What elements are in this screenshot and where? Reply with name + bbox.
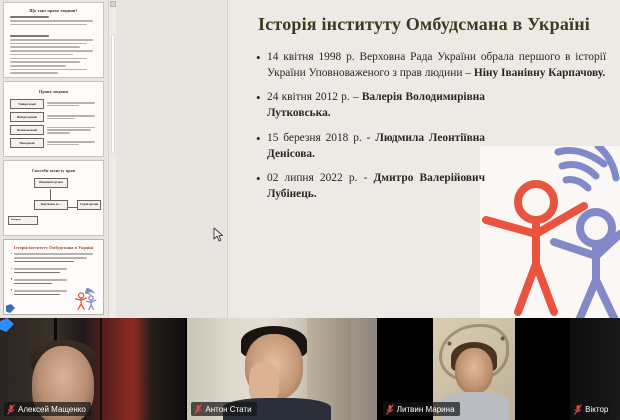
bullet-text-1: 24 квітня 2012 р. – Валерія Володимирівн… bbox=[267, 90, 485, 121]
thumbnail-2-box-3: Неподільні bbox=[10, 138, 44, 148]
thumbnail-3-node-3: Заборона bbox=[8, 216, 38, 225]
participant-tile-2[interactable]: Литвин Марина bbox=[379, 318, 568, 420]
thumbnail-3-node-1: Звертатись до ... bbox=[34, 200, 68, 209]
slide-thumbnail-2[interactable]: Права людини Універсальні Невідчужувані … bbox=[3, 81, 104, 157]
thumbnail-scrollbar[interactable] bbox=[108, 0, 116, 318]
slide-bullet-item: • 24 квітня 2012 р. – Валерія Володимирі… bbox=[256, 90, 606, 121]
participant-name-0: Алексей Мащенко bbox=[18, 405, 86, 414]
bullet-marker: • bbox=[256, 50, 267, 81]
thumbnail-2-title: Права людини bbox=[4, 89, 103, 94]
participant-name-bar-2: Литвин Марина bbox=[383, 402, 460, 416]
bullet-plain-1: 24 квітня 2012 р. – bbox=[267, 91, 362, 103]
scrollbar-thumb[interactable] bbox=[111, 34, 115, 154]
mic-muted-icon bbox=[574, 404, 582, 415]
thumbnail-2-box-0: Універсальні bbox=[10, 99, 44, 109]
participant-tile-0[interactable]: Алексей Мащенко bbox=[0, 318, 185, 420]
bullet-plain-3: 02 липня 2022 р. - bbox=[267, 172, 373, 184]
thumbnail-1-subtitle bbox=[4, 13, 103, 28]
thumbnail-2-box-1: Невідчужувані bbox=[10, 112, 44, 122]
mic-muted-icon bbox=[386, 404, 394, 415]
bullet-marker: • bbox=[256, 131, 267, 162]
slide-thumbnail-3[interactable]: Способи захисту прав Виконавчі органи Зв… bbox=[3, 160, 104, 236]
slide-thumbnail-1[interactable]: Що таке права людини? bbox=[3, 2, 104, 78]
participant-tile-1[interactable]: Антон Стати bbox=[187, 318, 376, 420]
participant-name-2: Литвин Марина bbox=[397, 405, 455, 414]
thumbnail-2-row: Універсальні bbox=[10, 99, 97, 109]
thumbnail-4-corner-badge bbox=[6, 304, 15, 313]
bullet-bold-0: Ніну Іванівну Карпачову. bbox=[474, 67, 605, 79]
participant-name-bar-0: Алексей Мащенко bbox=[4, 402, 91, 416]
slide-thumbnail-rail[interactable]: Що таке права людини? Пр bbox=[0, 0, 108, 318]
slide-bullet-item: • 14 квітня 1998 р. Верховна Рада Україн… bbox=[256, 50, 606, 81]
thumbnail-4-title: Історія інституту Омбудсмана в Україні bbox=[4, 245, 103, 250]
thumbnail-2-row: Взаємозалежні bbox=[10, 125, 97, 135]
slide-bullet-item: • 15 березня 2018 р. - Людмила Леонтіївн… bbox=[256, 131, 606, 162]
bullet-text-2: 15 березня 2018 р. - Людмила Леонтіївна … bbox=[267, 131, 485, 162]
participant-name-1: Антон Стати bbox=[205, 405, 251, 414]
participant-name-bar-1: Антон Стати bbox=[191, 402, 256, 416]
presentation-side-panel bbox=[116, 0, 228, 318]
bullet-plain-2: 15 березня 2018 р. - bbox=[267, 132, 375, 144]
participant-tile-3[interactable]: Віктор bbox=[570, 318, 620, 420]
zoom-logo-icon bbox=[0, 318, 16, 332]
participant-name-3: Віктор bbox=[585, 405, 608, 414]
thumbnail-2-row: Невідчужувані bbox=[10, 112, 97, 122]
mouse-cursor bbox=[213, 227, 224, 242]
thumbnail-3-diagram: Виконавчі органи Звертатись до ... Судов… bbox=[4, 176, 103, 228]
thumbnail-4-logo-icon bbox=[72, 286, 98, 310]
thumbnail-1-body bbox=[4, 28, 103, 73]
screen-share-window: Що таке права людини? Пр bbox=[0, 0, 620, 420]
mic-muted-icon bbox=[194, 404, 202, 415]
thumbnail-3-node-0: Виконавчі органи bbox=[34, 178, 68, 187]
thumbnail-2-box-2: Взаємозалежні bbox=[10, 125, 44, 135]
slide-title: Історія інституту Омбудсмана в Україні bbox=[228, 0, 620, 36]
participant-name-bar-3: Віктор bbox=[572, 402, 610, 416]
slide-thumbnail-4[interactable]: Історія інституту Омбудсмана в Україні bbox=[3, 239, 104, 315]
bullet-text-3: 02 липня 2022 р. - Дмитро Валерійович Лу… bbox=[267, 171, 485, 202]
thumbnail-2-row: Неподільні bbox=[10, 138, 97, 148]
mic-muted-icon bbox=[7, 404, 15, 415]
bullet-marker: • bbox=[256, 171, 267, 202]
slide-bullet-item: • 02 липня 2022 р. - Дмитро Валерійович … bbox=[256, 171, 606, 202]
thumbnail-3-title: Способи захисту прав bbox=[4, 168, 103, 173]
bullet-text-0: 14 квітня 1998 р. Верховна Рада України … bbox=[267, 50, 606, 81]
bullet-marker: • bbox=[256, 90, 267, 121]
main-slide: Історія інституту Омбудсмана в Україні •… bbox=[228, 0, 620, 318]
thumbnail-3-node-2: Судові органи bbox=[77, 200, 101, 209]
participant-video-strip: Алексей Мащенко Антон Стати bbox=[0, 318, 620, 420]
slide-bullet-list: • 14 квітня 1998 р. Верховна Рада Україн… bbox=[228, 36, 620, 203]
